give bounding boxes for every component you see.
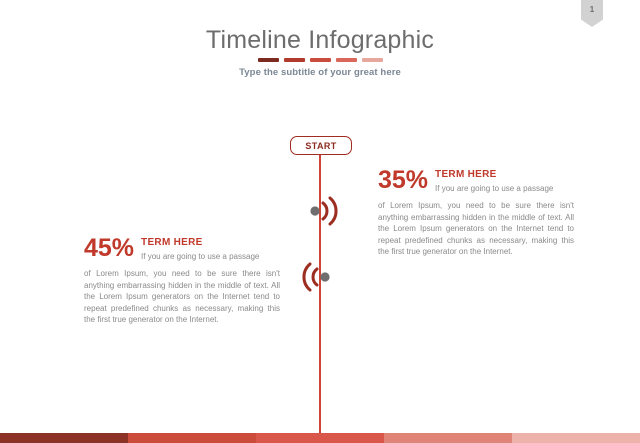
content-block-left: 45% TERM HERE If you are going to use a … bbox=[84, 236, 280, 326]
term-title-left: TERM HERE bbox=[141, 237, 259, 249]
content-block-right-headtext: TERM HERE If you are going to use a pass… bbox=[435, 168, 553, 194]
content-block-left-heading: 45% TERM HERE If you are going to use a … bbox=[84, 236, 280, 262]
content-block-right: 35% TERM HERE If you are going to use a … bbox=[378, 168, 574, 258]
slide-header: Timeline Infographic Type the subtitle o… bbox=[0, 26, 640, 78]
divider-dash-4 bbox=[336, 58, 357, 62]
page-number-badge: 1 bbox=[581, 0, 603, 27]
divider-dash-5 bbox=[362, 58, 383, 62]
body-text-right: of Lorem Ipsum, you need to be sure ther… bbox=[378, 200, 574, 258]
term-title-right: TERM HERE bbox=[435, 169, 553, 181]
body-text-left: of Lorem Ipsum, you need to be sure ther… bbox=[84, 268, 280, 326]
percent-value-left: 45% bbox=[84, 236, 134, 261]
divider-dash-3 bbox=[310, 58, 331, 62]
start-button-label: START bbox=[305, 141, 336, 151]
page-number-label: 1 bbox=[590, 5, 594, 14]
percent-value-right: 35% bbox=[378, 168, 428, 193]
page-subtitle: Type the subtitle of your great here bbox=[0, 67, 640, 78]
footer-segment-1 bbox=[0, 433, 128, 443]
divider-dash-1 bbox=[258, 58, 279, 62]
footer-segment-2 bbox=[128, 433, 256, 443]
content-block-left-headtext: TERM HERE If you are going to use a pass… bbox=[141, 236, 259, 262]
slide-canvas: 1 Timeline Infographic Type the subtitle… bbox=[0, 0, 640, 443]
timeline-node-signal-left-icon[interactable] bbox=[290, 260, 334, 294]
term-lede-right: If you are going to use a passage bbox=[435, 183, 553, 194]
footer-segment-3 bbox=[256, 433, 384, 443]
start-button[interactable]: START bbox=[290, 136, 352, 155]
term-lede-left: If you are going to use a passage bbox=[141, 251, 259, 262]
footer-segment-4 bbox=[384, 433, 512, 443]
footer-color-bar bbox=[0, 433, 640, 443]
title-divider-dashes bbox=[0, 58, 640, 62]
divider-dash-2 bbox=[284, 58, 305, 62]
content-block-right-heading: 35% TERM HERE If you are going to use a … bbox=[378, 168, 574, 194]
page-title: Timeline Infographic bbox=[0, 26, 640, 54]
timeline-node-signal-right-icon[interactable] bbox=[306, 194, 350, 228]
footer-segment-5 bbox=[512, 433, 640, 443]
